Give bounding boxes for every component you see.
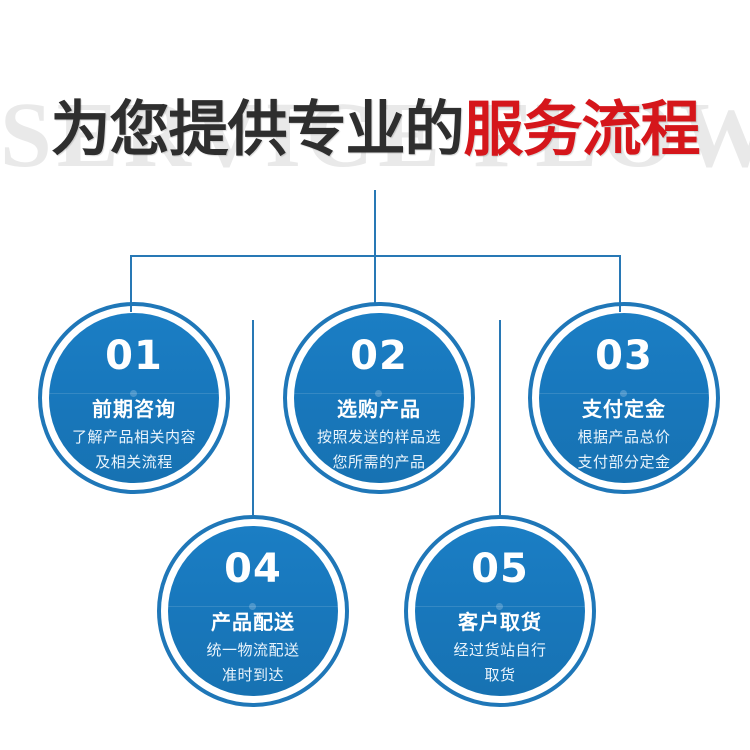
step-disc-02: 02 选购产品 按照发送的样品选 您所需的产品 <box>294 313 464 483</box>
step-disc-03: 03 支付定金 根据产品总价 支付部分定金 <box>539 313 709 483</box>
step-desc-01: 了解产品相关内容 及相关流程 <box>51 425 217 475</box>
step-title-02: 选购产品 <box>294 396 464 422</box>
step-title-03: 支付定金 <box>539 396 709 422</box>
step-number-05: 05 <box>415 546 585 592</box>
connector-drop-step-02 <box>374 255 376 303</box>
step-desc-05: 经过货站自行 取货 <box>417 638 583 688</box>
step-title-05: 客户取货 <box>415 609 585 635</box>
step-number-04: 04 <box>168 546 338 592</box>
page-title: 为您提供专业的服务流程 <box>0 92 750 168</box>
step-disc-01: 01 前期咨询 了解产品相关内容 及相关流程 <box>49 313 219 483</box>
step-node-01[interactable]: 01 前期咨询 了解产品相关内容 及相关流程 <box>38 302 230 494</box>
step-node-04[interactable]: 04 产品配送 统一物流配送 准时到达 <box>157 515 349 707</box>
service-flow-diagram: SERVICE FLOW 为您提供专业的服务流程 01 前期咨询 了解产品相关内… <box>0 0 750 750</box>
step-node-03[interactable]: 03 支付定金 根据产品总价 支付部分定金 <box>528 302 720 494</box>
connector-drop-step-04 <box>252 320 254 515</box>
step-node-02[interactable]: 02 选购产品 按照发送的样品选 您所需的产品 <box>283 302 475 494</box>
step-disc-05: 05 客户取货 经过货站自行 取货 <box>415 526 585 696</box>
page-title-red-segment: 服务流程 <box>464 95 700 165</box>
step-number-02: 02 <box>294 333 464 379</box>
step-node-05[interactable]: 05 客户取货 经过货站自行 取货 <box>404 515 596 707</box>
connector-title-stem <box>374 190 376 256</box>
step-number-01: 01 <box>49 333 219 379</box>
step-disc-04: 04 产品配送 统一物流配送 准时到达 <box>168 526 338 696</box>
step-desc-03: 根据产品总价 支付部分定金 <box>541 425 707 475</box>
step-desc-04: 统一物流配送 准时到达 <box>170 638 336 688</box>
step-title-04: 产品配送 <box>168 609 338 635</box>
connector-drop-step-05 <box>499 320 501 515</box>
step-title-01: 前期咨询 <box>49 396 219 422</box>
step-number-03: 03 <box>539 333 709 379</box>
step-desc-02: 按照发送的样品选 您所需的产品 <box>296 425 462 475</box>
page-title-dark-segment: 为您提供专业的 <box>51 95 464 165</box>
header: SERVICE FLOW 为您提供专业的服务流程 <box>0 78 750 193</box>
